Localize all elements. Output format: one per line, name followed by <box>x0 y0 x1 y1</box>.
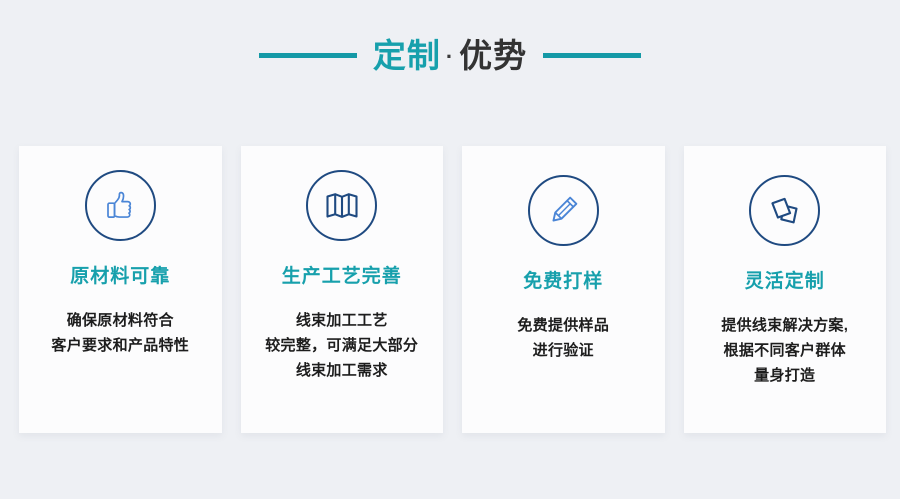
card-title: 生产工艺完善 <box>282 267 402 286</box>
advantage-card[interactable]: 免费打样 免费提供样品 进行验证 <box>462 146 665 433</box>
card-body: 确保原材料符合 客户要求和产品特性 <box>51 308 189 358</box>
page-title-separator: · <box>441 46 459 68</box>
icon-ring <box>528 175 599 246</box>
card-title: 原材料可靠 <box>70 267 170 286</box>
card-body: 免费提供样品 进行验证 <box>517 313 609 363</box>
page-title-accent: 定制 <box>373 39 441 72</box>
folded-map-icon <box>322 186 362 226</box>
advantage-card[interactable]: 原材料可靠 确保原材料符合 客户要求和产品特性 <box>19 146 222 433</box>
pencil-icon <box>543 191 583 231</box>
advantage-card[interactable]: 灵活定制 提供线束解决方案, 根据不同客户群体 量身打造 <box>684 146 887 433</box>
icon-ring <box>306 170 377 241</box>
section-heading: 定制 · 优势 <box>0 26 900 84</box>
card-body: 提供线束解决方案, 根据不同客户群体 量身打造 <box>721 313 848 388</box>
thumbs-up-icon <box>100 186 140 226</box>
card-title: 免费打样 <box>523 272 603 291</box>
page-title: 定制 · 优势 <box>373 39 527 72</box>
card-body: 线束加工工艺 较完整，可满足大部分 线束加工需求 <box>265 308 418 383</box>
heading-rule-left <box>259 53 357 58</box>
icon-ring <box>749 175 820 246</box>
advantage-card-list: 原材料可靠 确保原材料符合 客户要求和产品特性 生产工艺完善 线束加工工艺 较完… <box>19 146 886 433</box>
card-title: 灵活定制 <box>745 272 825 291</box>
stacked-cards-icon <box>765 191 805 231</box>
page-title-rest: 优势 <box>459 39 527 72</box>
advantage-card[interactable]: 生产工艺完善 线束加工工艺 较完整，可满足大部分 线束加工需求 <box>241 146 444 433</box>
heading-rule-right <box>543 53 641 58</box>
icon-ring <box>85 170 156 241</box>
